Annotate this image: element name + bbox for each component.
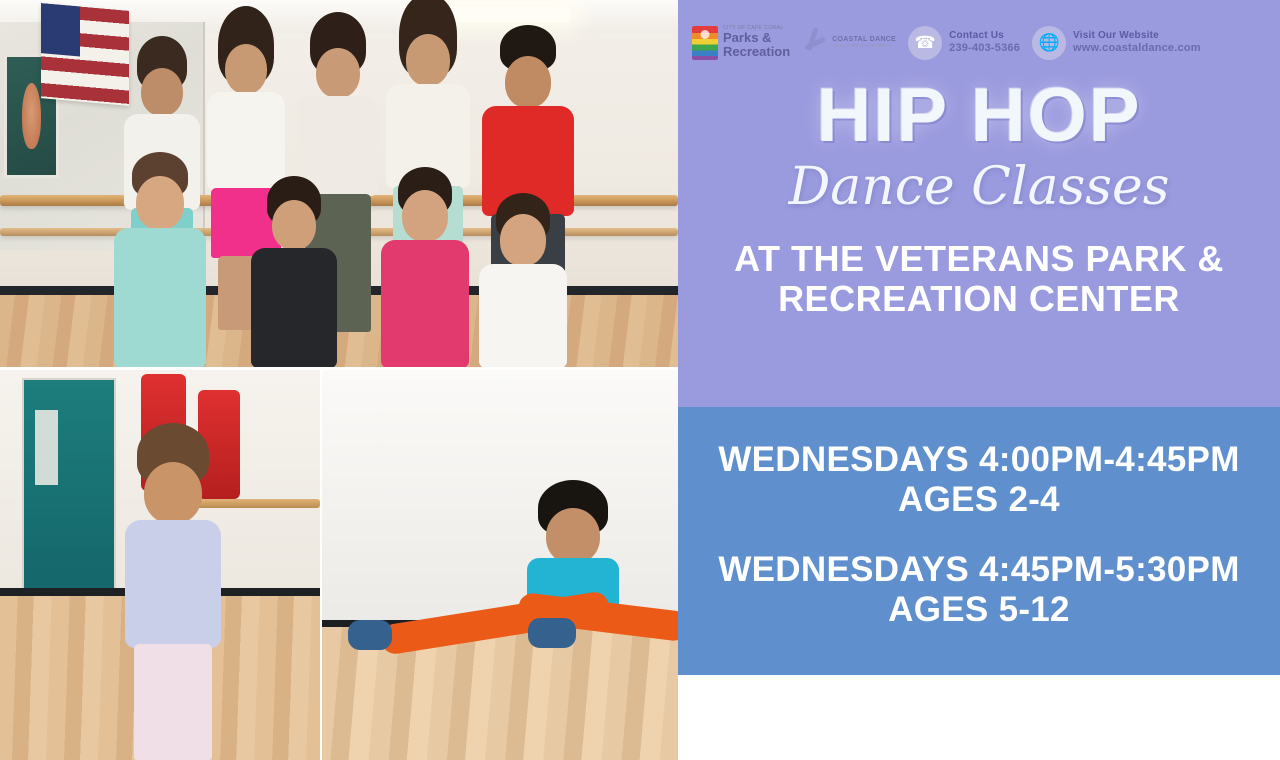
contact-phone-number[interactable]: 239-403-5366 <box>949 42 1020 55</box>
contact-us-block[interactable]: ☎ Contact Us 239-403-5366 <box>908 26 1020 60</box>
parks-rainbow-icon <box>692 26 718 60</box>
photo-group-class <box>0 0 678 367</box>
website-block[interactable]: 🌐 Visit Our Website www.coastaldance.com <box>1032 26 1201 60</box>
photo-collage <box>0 0 678 760</box>
title-block: HIP HOP Dance Classes AT THE VETERANS PA… <box>678 78 1280 319</box>
us-flag <box>41 3 129 106</box>
coastal-logo-text: COASTAL DANCE ARTS & ENTERTAINMENT <box>832 36 896 49</box>
dancer-icon <box>802 25 828 61</box>
contact-text: Contact Us 239-403-5366 <box>949 30 1020 55</box>
info-panel: HIP HOP Dance Classes AT THE VETERANS PA… <box>678 0 1280 760</box>
parks-recreation-logo: CITY OF CAPE CORAL Parks & Recreation <box>692 26 790 60</box>
subheadline: Dance Classes <box>678 160 1280 215</box>
schedule-ages-2: AGES 5-12 <box>678 590 1280 630</box>
phone-icon: ☎ <box>908 26 942 60</box>
website-url[interactable]: www.coastaldance.com <box>1073 42 1201 55</box>
schedule-time-1: WEDNESDAYS 4:00PM-4:45PM <box>678 440 1280 480</box>
schedule-ages-1: AGES 2-4 <box>678 480 1280 520</box>
website-label: Visit Our Website <box>1073 30 1201 42</box>
contact-label: Contact Us <box>949 30 1020 42</box>
footer-band <box>678 675 1280 760</box>
child-front-4 <box>476 206 570 367</box>
parks-name-line-2: Recreation <box>723 45 790 59</box>
schedule-item-1: WEDNESDAYS 4:00PM-4:45PM AGES 2-4 <box>678 440 1280 520</box>
teal-doors <box>22 378 116 600</box>
schedule-list: WEDNESDAYS 4:00PM-4:45PM AGES 2-4 WEDNES… <box>678 440 1280 630</box>
coastal-tagline: ARTS & ENTERTAINMENT <box>832 44 896 49</box>
headline: HIP HOP <box>678 78 1280 154</box>
child-front-2 <box>248 190 340 367</box>
shoe-right <box>528 618 576 648</box>
coastal-dance-logo: COASTAL DANCE ARTS & ENTERTAINMENT <box>802 25 896 61</box>
footer-content: CITY OF CAPE CORAL Parks & Recreation CO… <box>678 0 1280 85</box>
parks-name-line-1: Parks & <box>723 31 790 45</box>
globe-icon: 🌐 <box>1032 26 1066 60</box>
child-front-1 <box>112 168 208 367</box>
schedule-item-2: WEDNESDAYS 4:45PM-5:30PM AGES 5-12 <box>678 550 1280 630</box>
photo-toddler-dancing <box>0 370 320 760</box>
shoe-left <box>348 620 392 650</box>
photo-child-stretching <box>322 370 678 760</box>
schedule-time-2: WEDNESDAYS 4:45PM-5:30PM <box>678 550 1280 590</box>
website-text: Visit Our Website www.coastaldance.com <box>1073 30 1201 55</box>
venue-line-2: RECREATION CENTER <box>678 279 1280 319</box>
toddler-figure <box>108 448 238 760</box>
parks-logo-text: CITY OF CAPE CORAL Parks & Recreation <box>723 26 790 59</box>
venue-line-1: AT THE VETERANS PARK & <box>734 238 1224 279</box>
flyer-canvas: HIP HOP Dance Classes AT THE VETERANS PA… <box>0 0 1280 760</box>
child-front-3 <box>378 182 472 367</box>
venue-heading: AT THE VETERANS PARK & RECREATION CENTER <box>678 239 1280 320</box>
